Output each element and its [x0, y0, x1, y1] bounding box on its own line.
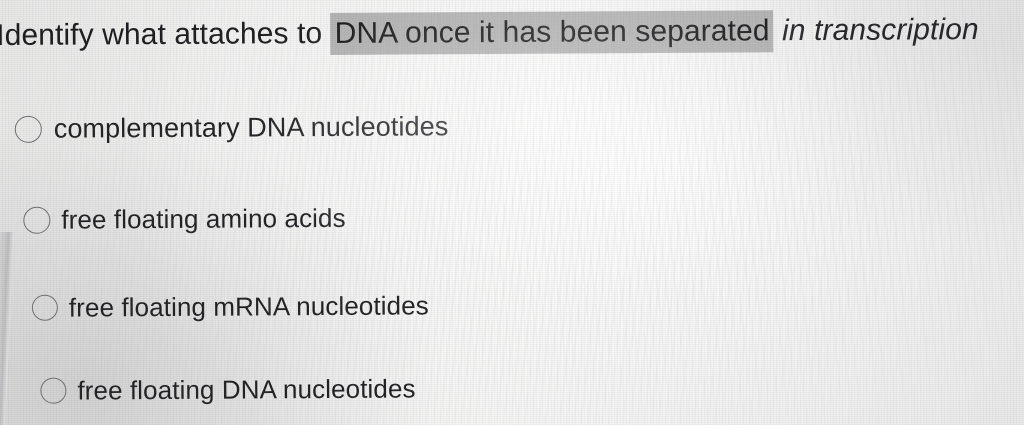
- answer-option-free-floating-mrna-nucleotides[interactable]: free floating mRNA nucleotides: [32, 288, 429, 324]
- answer-option-label: complementary DNA nucleotides: [54, 109, 449, 145]
- quiz-screen-photo: Identify what attaches to DNA once it ha…: [0, 0, 1024, 425]
- answer-option-complementary-dna-nucleotides[interactable]: complementary DNA nucleotides: [15, 109, 449, 146]
- answer-option-label: free floating amino acids: [61, 201, 346, 237]
- radio-unchecked-icon[interactable]: [32, 295, 58, 321]
- quiz-content: Identify what attaches to DNA once it ha…: [0, 0, 1024, 425]
- answer-option-label: free floating mRNA nucleotides: [69, 288, 429, 324]
- answer-option-free-floating-dna-nucleotides[interactable]: free floating DNA nucleotides: [40, 371, 415, 407]
- radio-unchecked-icon[interactable]: [40, 378, 66, 404]
- answer-option-free-floating-amino-acids[interactable]: free floating amino acids: [23, 201, 346, 237]
- question-trailing-text: in transcription: [774, 13, 979, 47]
- question-prompt: Identify what attaches to DNA once it ha…: [0, 8, 1006, 58]
- question-lead-text: Identify what attaches to: [0, 17, 331, 52]
- radio-unchecked-icon[interactable]: [15, 115, 42, 142]
- answer-option-label: free floating DNA nucleotides: [77, 371, 415, 407]
- radio-unchecked-icon[interactable]: [23, 206, 50, 233]
- question-highlighted-selection[interactable]: DNA once it has been separated: [331, 10, 774, 55]
